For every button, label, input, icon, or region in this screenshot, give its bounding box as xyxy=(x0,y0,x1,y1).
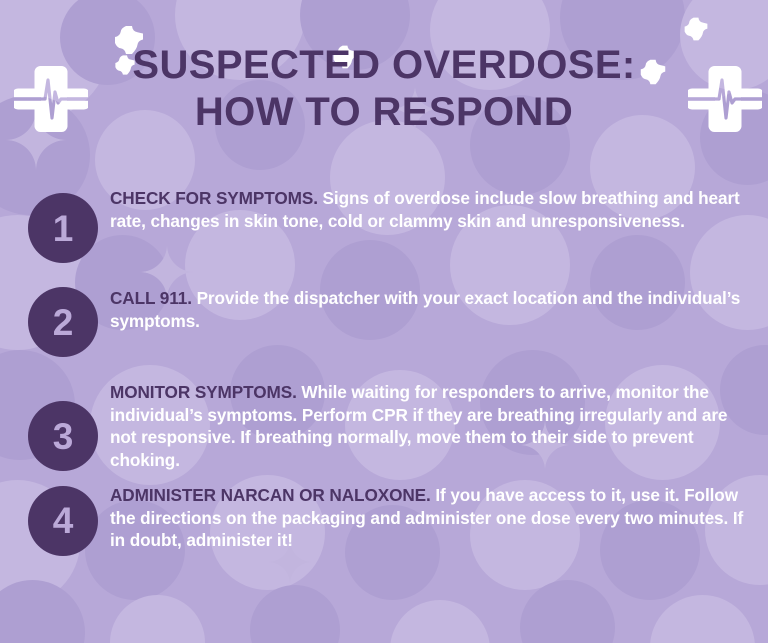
steps-list: 1 CHECK FOR SYMPTOMS. Signs of overdose … xyxy=(0,185,768,570)
step-body-2: Provide the dispatcher with your exact l… xyxy=(110,288,740,331)
list-item-step-2: 2 CALL 911. Provide the dispatcher with … xyxy=(0,285,768,357)
list-item-step-1: 1 CHECK FOR SYMPTOMS. Signs of overdose … xyxy=(0,185,768,263)
step-text-2: CALL 911. Provide the dispatcher with yo… xyxy=(98,285,768,332)
list-item-step-4: 4 ADMINISTER NARCAN OR NALOXONE. If you … xyxy=(0,482,768,556)
step-lead-2: CALL 911. xyxy=(110,288,192,308)
plus-sparkle-icon-top-right xyxy=(683,16,709,42)
step-lead-3: MONITOR SYMPTOMS. xyxy=(110,382,297,402)
step-lead-1: CHECK FOR SYMPTOMS. xyxy=(110,188,318,208)
overdose-response-poster: SUSPECTED OVERDOSE: HOW TO RESPOND 1 CHE… xyxy=(0,0,768,643)
list-item-step-3: 3 MONITOR SYMPTOMS. While waiting for re… xyxy=(0,379,768,472)
page-title-line-2: HOW TO RESPOND xyxy=(0,89,768,136)
step-lead-4: ADMINISTER NARCAN OR NALOXONE. xyxy=(110,485,431,505)
step-number-badge-1: 1 xyxy=(28,193,98,263)
step-number-badge-3: 3 xyxy=(28,401,98,471)
step-text-3: MONITOR SYMPTOMS. While waiting for resp… xyxy=(98,379,768,472)
page-title-line-1: SUSPECTED OVERDOSE: xyxy=(0,42,768,89)
step-text-1: CHECK FOR SYMPTOMS. Signs of overdose in… xyxy=(98,185,768,232)
page-title: SUSPECTED OVERDOSE: HOW TO RESPOND xyxy=(0,42,768,136)
step-number-badge-2: 2 xyxy=(28,287,98,357)
step-text-4: ADMINISTER NARCAN OR NALOXONE. If you ha… xyxy=(98,482,768,552)
step-number-badge-4: 4 xyxy=(28,486,98,556)
